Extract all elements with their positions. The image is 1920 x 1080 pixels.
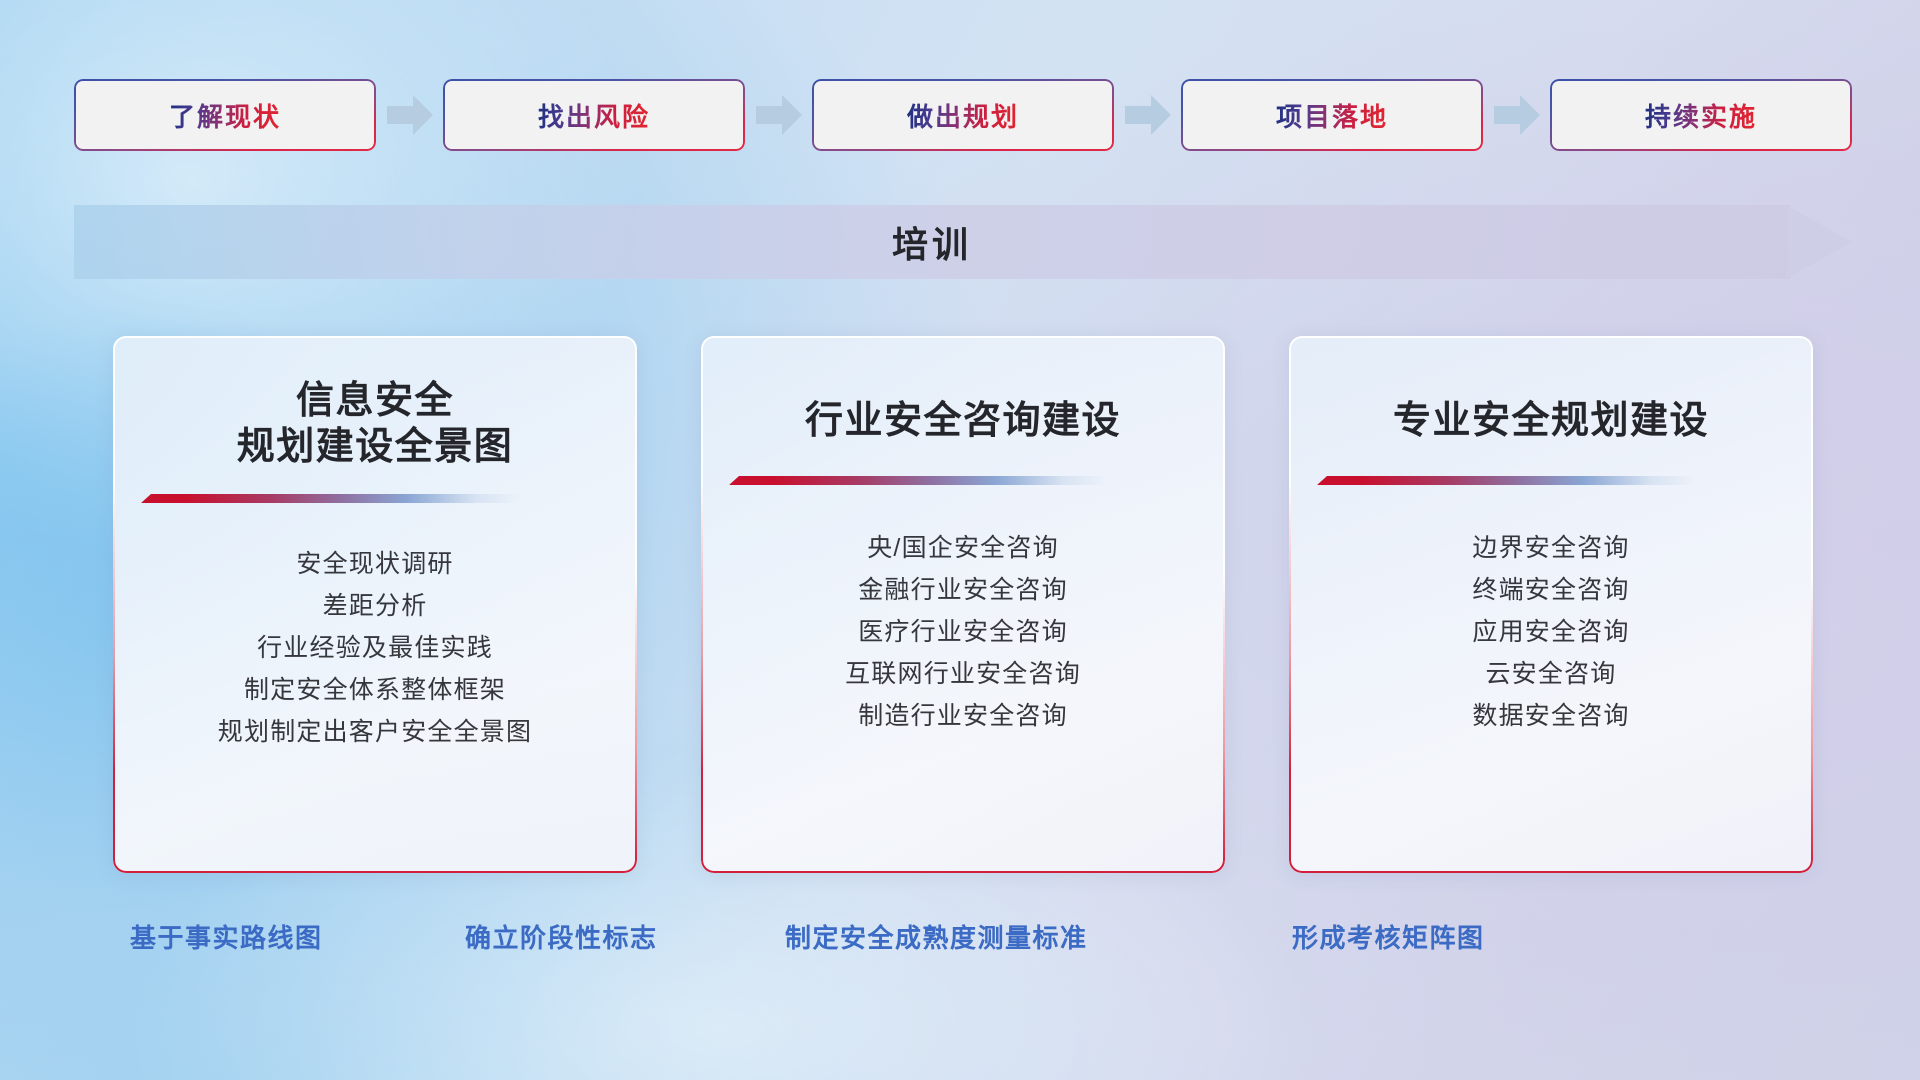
bottom-label-3: 制定安全成熟度测量标准 xyxy=(785,918,1088,955)
card-list-item: 终端安全咨询 xyxy=(1313,578,1789,603)
card-list-item: 差距分析 xyxy=(137,594,613,619)
card-group: 信息安全 规划建设全景图安全现状调研差距分析行业经验及最佳实践制定安全体系整体框… xyxy=(113,336,1813,873)
slide-stage: 了解现状找出风险做出规划项目落地持续实施 培训 信息安全 规划建设全景图安全现状… xyxy=(0,0,1920,1080)
card-accent-rule xyxy=(141,494,521,503)
training-title: 培训 xyxy=(74,205,1790,279)
step-box-4[interactable]: 项目落地 xyxy=(1181,79,1483,151)
step-box-2[interactable]: 找出风险 xyxy=(443,79,745,151)
step-label: 了解现状 xyxy=(169,97,281,134)
card-list-item: 行业经验及最佳实践 xyxy=(137,636,613,661)
card-title: 信息安全 规划建设全景图 xyxy=(141,378,609,471)
card-list-item: 应用安全咨询 xyxy=(1313,620,1789,645)
card-title: 专业安全规划建设 xyxy=(1317,398,1785,444)
card-list-item: 互联网行业安全咨询 xyxy=(725,662,1201,687)
step-box-5[interactable]: 持续实施 xyxy=(1550,79,1852,151)
card-list-item: 规划制定出客户安全全景图 xyxy=(137,720,613,745)
card-list-item: 医疗行业安全咨询 xyxy=(725,620,1201,645)
bottom-label-4: 形成考核矩阵图 xyxy=(1292,918,1485,955)
bottom-label-2: 确立阶段性标志 xyxy=(465,918,658,955)
card-list-item: 制定安全体系整体框架 xyxy=(137,678,613,703)
step-label: 持续实施 xyxy=(1645,97,1757,134)
process-step-flow: 了解现状找出风险做出规划项目落地持续实施 xyxy=(74,79,1854,151)
banner-arrow-tip-icon xyxy=(1786,192,1852,292)
step-label: 做出规划 xyxy=(907,97,1019,134)
training-banner: 培训 xyxy=(74,205,1852,279)
card-title: 行业安全咨询建设 xyxy=(729,398,1197,444)
card-list-item: 边界安全咨询 xyxy=(1313,536,1789,561)
step-arrow-icon xyxy=(376,79,443,151)
step-arrow-icon xyxy=(745,79,812,151)
card-item-list: 安全现状调研差距分析行业经验及最佳实践制定安全体系整体框架规划制定出客户安全全景… xyxy=(137,552,613,745)
card-gap xyxy=(1225,336,1289,873)
info-card-1[interactable]: 信息安全 规划建设全景图安全现状调研差距分析行业经验及最佳实践制定安全体系整体框… xyxy=(113,336,637,873)
step-label: 找出风险 xyxy=(538,97,650,134)
card-list-item: 数据安全咨询 xyxy=(1313,704,1789,729)
step-arrow-icon xyxy=(1114,79,1181,151)
card-list-item: 金融行业安全咨询 xyxy=(725,578,1201,603)
step-arrow-icon xyxy=(1483,79,1550,151)
step-box-1[interactable]: 了解现状 xyxy=(74,79,376,151)
info-card-2[interactable]: 行业安全咨询建设央/国企安全咨询金融行业安全咨询医疗行业安全咨询互联网行业安全咨… xyxy=(701,336,1225,873)
card-list-item: 安全现状调研 xyxy=(137,552,613,577)
card-item-list: 央/国企安全咨询金融行业安全咨询医疗行业安全咨询互联网行业安全咨询制造行业安全咨… xyxy=(725,536,1201,729)
bottom-label-1: 基于事实路线图 xyxy=(130,918,323,955)
card-list-item: 云安全咨询 xyxy=(1313,662,1789,687)
info-card-3[interactable]: 专业安全规划建设边界安全咨询终端安全咨询应用安全咨询云安全咨询数据安全咨询 xyxy=(1289,336,1813,873)
bottom-label-row: 基于事实路线图确立阶段性标志制定安全成熟度测量标准形成考核矩阵图 xyxy=(0,918,1920,958)
card-gap xyxy=(637,336,701,873)
step-box-3[interactable]: 做出规划 xyxy=(812,79,1114,151)
card-list-item: 央/国企安全咨询 xyxy=(725,536,1201,561)
card-item-list: 边界安全咨询终端安全咨询应用安全咨询云安全咨询数据安全咨询 xyxy=(1313,536,1789,729)
card-accent-rule xyxy=(1317,476,1697,485)
step-label: 项目落地 xyxy=(1276,97,1388,134)
card-list-item: 制造行业安全咨询 xyxy=(725,704,1201,729)
card-accent-rule xyxy=(729,476,1109,485)
